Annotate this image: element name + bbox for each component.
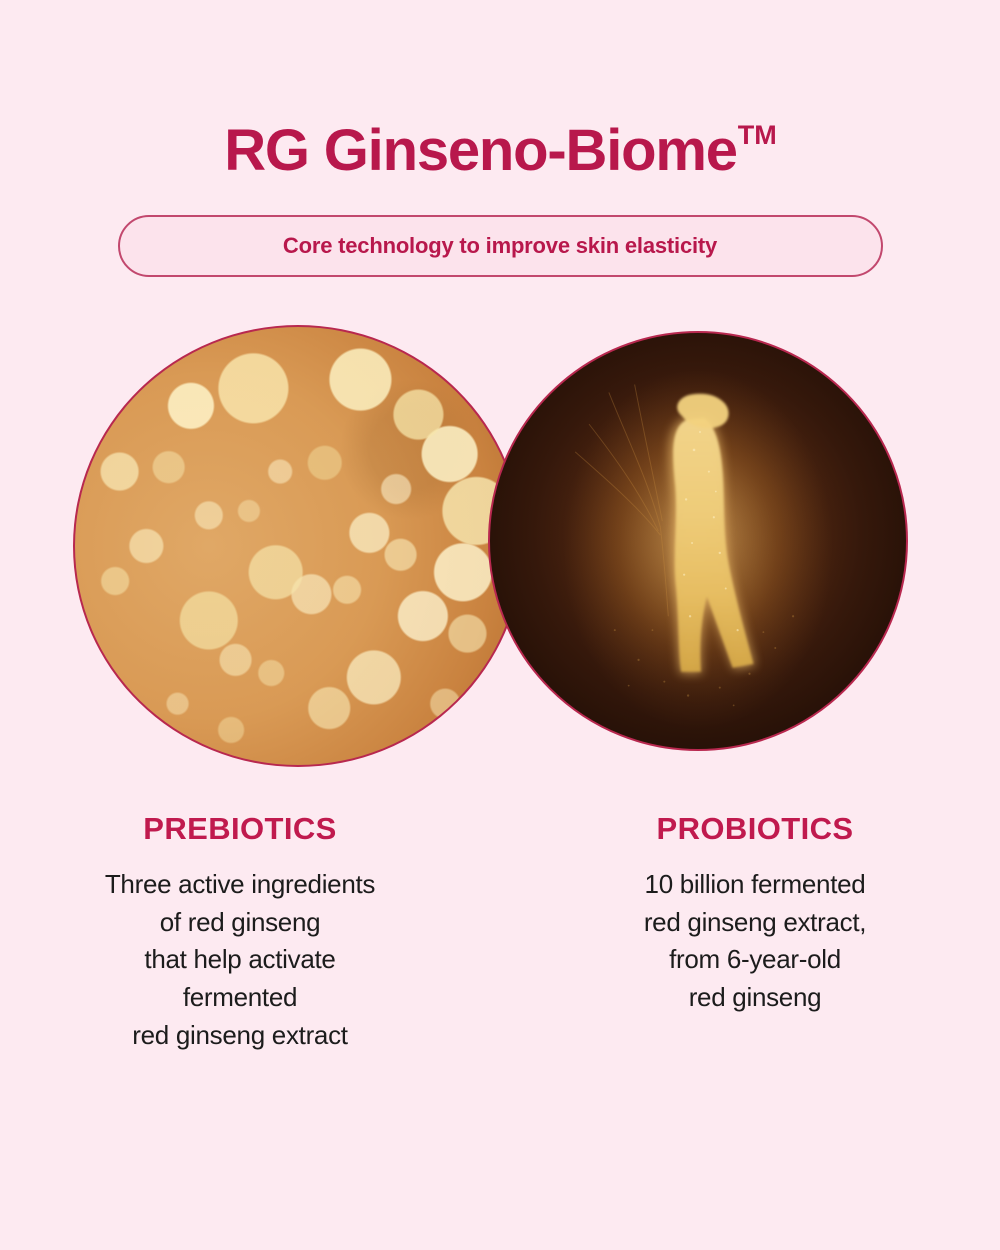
probiotics-image-circle	[488, 331, 908, 751]
ginseng-root-icon	[490, 333, 906, 749]
subtitle-pill-wrapper: Core technology to improve skin elastici…	[0, 215, 1000, 277]
page-title-text: RG Ginseno-Biome	[224, 118, 737, 183]
prebiotics-column: PREBIOTICS Three active ingredients of r…	[0, 813, 500, 1054]
probiotics-body-line: red ginseng	[510, 979, 1000, 1017]
header-section: RG Ginseno-BiomeTM Core technology to im…	[0, 0, 1000, 277]
probiotics-body-line: 10 billion fermented	[510, 866, 1000, 904]
subtitle-text: Core technology to improve skin elastici…	[283, 233, 717, 259]
trademark-symbol: TM	[738, 120, 777, 150]
prebiotics-body-line: red ginseng extract	[0, 1017, 480, 1055]
prebiotics-body: Three active ingredients of red ginseng …	[0, 866, 480, 1054]
probiotics-body-line: red ginseng extract,	[510, 904, 1000, 942]
probiotics-body: 10 billion fermented red ginseng extract…	[510, 866, 1000, 1017]
subtitle-pill: Core technology to improve skin elastici…	[118, 215, 883, 277]
prebiotics-body-line: fermented	[0, 979, 480, 1017]
prebiotics-body-line: that help activate	[0, 941, 480, 979]
probiotics-body-line: from 6-year-old	[510, 941, 1000, 979]
prebiotics-body-line: of red ginseng	[0, 904, 480, 942]
media-circles	[0, 325, 1000, 773]
probiotics-column: PROBIOTICS 10 billion fermented red gins…	[500, 813, 1000, 1054]
prebiotics-image-circle	[73, 325, 523, 767]
page-title: RG Ginseno-BiomeTM	[224, 122, 776, 180]
prebiotics-heading: PREBIOTICS	[0, 813, 480, 844]
captions-section: PREBIOTICS Three active ingredients of r…	[0, 813, 1000, 1054]
prebiotics-body-line: Three active ingredients	[0, 866, 480, 904]
probiotics-heading: PROBIOTICS	[510, 813, 1000, 844]
